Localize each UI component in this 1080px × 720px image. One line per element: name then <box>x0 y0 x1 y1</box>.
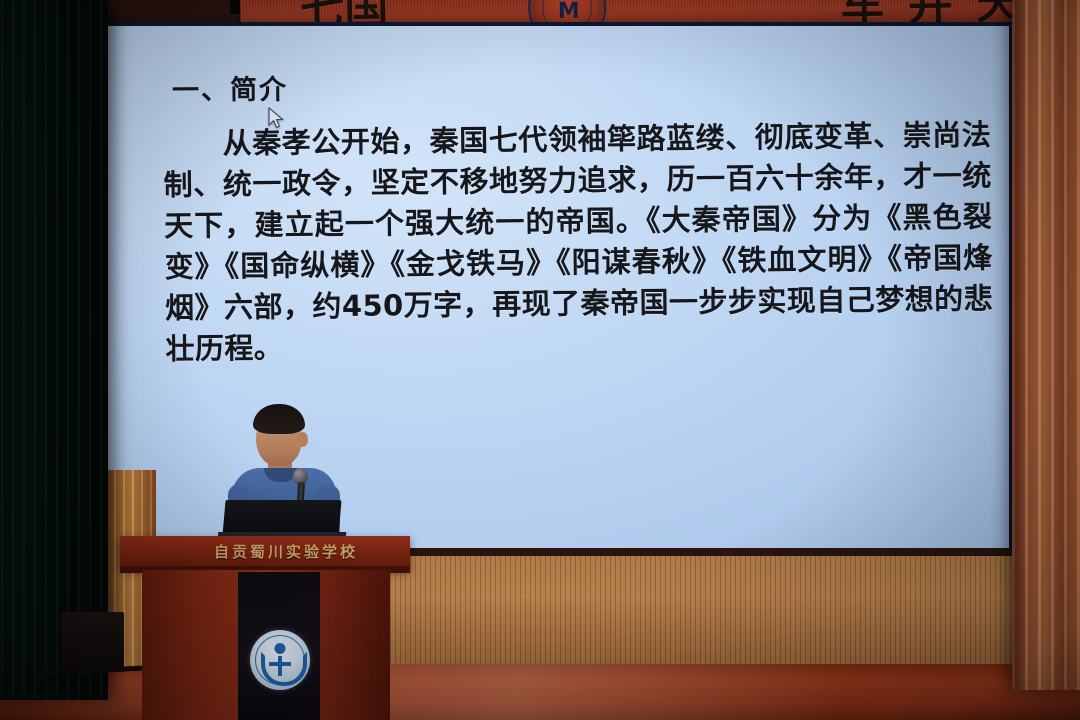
podium-school-name: 自贡蜀川实验学校 <box>196 541 376 562</box>
school-crest-icon <box>250 630 310 690</box>
curtain-right <box>1012 0 1080 690</box>
banner-emblem-mark: M <box>558 0 577 24</box>
presenter-ear <box>298 432 308 447</box>
slide-body-text: 从秦孝公开始，秦国七代领袖筚路蓝缕、彻底变革、崇尚法制、统一政令，坚定不移地努力… <box>163 115 994 370</box>
curtain-left <box>0 0 108 700</box>
crest-bar-horizontal <box>269 662 291 666</box>
presenter-hair <box>253 404 305 434</box>
laptop-screen <box>222 500 341 536</box>
stage-speaker-box <box>62 612 124 672</box>
crest-bar-vertical <box>278 656 282 676</box>
slide-title: 一、简介 <box>172 67 288 107</box>
auditorium-scene: 七国 M 车并天下 一、简介 从秦孝公开始，秦国七代领袖筚路蓝缕、彻底变革、崇尚… <box>0 0 1080 720</box>
